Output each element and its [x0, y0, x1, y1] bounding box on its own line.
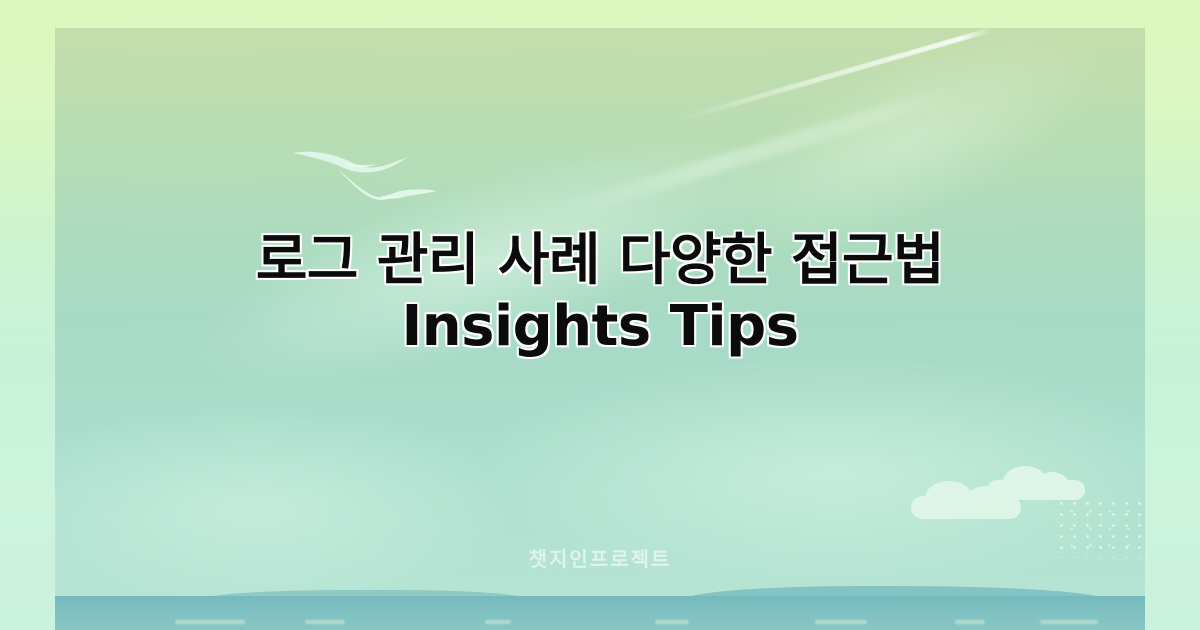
- cloud-streak-soft: [553, 84, 959, 222]
- water-glint: [955, 620, 985, 624]
- page-title: 로그 관리 사례 다양한 접근법 Insights Tips: [55, 228, 1145, 360]
- water-glint: [655, 620, 689, 624]
- cloud-streak-thin: [674, 28, 993, 123]
- water-glint: [305, 620, 345, 624]
- seagull-lower-icon: [336, 166, 440, 202]
- water-glint: [815, 620, 867, 624]
- sky-haze-bottom-left: [55, 408, 515, 608]
- water-glint: [485, 620, 511, 624]
- water-glint: [175, 620, 245, 624]
- poster-canvas: 로그 관리 사례 다양한 접근법 Insights Tips 챗지인프로젝트: [0, 0, 1200, 630]
- sea-surface: [55, 596, 1145, 630]
- water-glint: [1040, 620, 1098, 624]
- cloud-right: [987, 480, 1085, 500]
- watermark-label: 챗지인프로젝트: [55, 543, 1145, 572]
